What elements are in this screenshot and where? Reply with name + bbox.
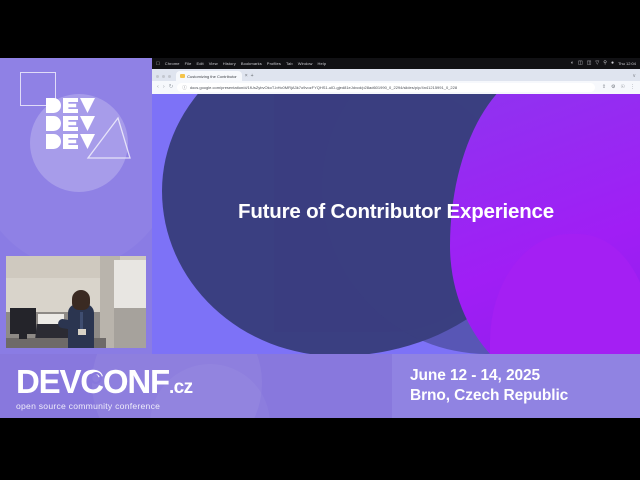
forward-button[interactable]: › bbox=[163, 85, 165, 91]
menu-item-window[interactable]: Window bbox=[298, 61, 313, 66]
kebab-menu-icon[interactable]: ⋮ bbox=[630, 85, 635, 90]
menu-item-view[interactable]: View bbox=[209, 61, 218, 66]
letter-v-glyph bbox=[80, 134, 95, 149]
siri-icon[interactable]: ● bbox=[611, 61, 614, 66]
slides-favicon-icon bbox=[180, 74, 185, 79]
macos-menu-bar:  Chrome File Edit View History Bookmark… bbox=[152, 58, 640, 69]
webcam-window-shade bbox=[114, 308, 146, 348]
share-icon[interactable]: ⇪ bbox=[602, 85, 606, 90]
new-tab-button[interactable]: + bbox=[251, 73, 254, 81]
menu-item-tab[interactable]: Tab bbox=[286, 61, 293, 66]
maximize-window-button[interactable] bbox=[168, 75, 171, 78]
minimize-window-button[interactable] bbox=[162, 75, 165, 78]
menu-bar-clock[interactable]: Thu 12:04 bbox=[618, 61, 636, 66]
devconf-wordmark: DEVCONF .cz bbox=[16, 365, 193, 398]
menu-item-help[interactable]: Help bbox=[318, 61, 327, 66]
letterbox-top bbox=[0, 0, 640, 58]
browser-tab-active[interactable]: Customizing the Contributor bbox=[176, 71, 242, 81]
tab-title: Customizing the Contributor bbox=[187, 74, 237, 79]
toolbar-icon-group: ⇪ ⚙ ☉ ⋮ bbox=[599, 85, 635, 90]
menu-item-bookmarks[interactable]: Bookmarks bbox=[241, 61, 262, 66]
letter-v-glyph bbox=[80, 116, 95, 131]
video-frame:  Chrome File Edit View History Bookmark… bbox=[0, 0, 640, 480]
devconf-tagline: open source community conference bbox=[16, 401, 193, 411]
webcam-monitor bbox=[10, 308, 36, 334]
spotlight-icon[interactable]: ⚲ bbox=[603, 61, 607, 66]
dev-logo-row bbox=[46, 116, 95, 131]
letter-e-glyph bbox=[63, 134, 78, 149]
event-location: Brno, Czech Republic bbox=[410, 386, 568, 406]
extensions-icon[interactable]: ⚙ bbox=[611, 85, 615, 90]
browser-tab-strip: Customizing the Contributor × + ∨ bbox=[152, 69, 640, 81]
dev-logo-row bbox=[46, 134, 95, 149]
menu-item-history[interactable]: History bbox=[223, 61, 236, 66]
battery-icon[interactable]: ◫ bbox=[587, 61, 592, 66]
reload-button[interactable]: ↻ bbox=[169, 85, 174, 91]
letter-e-glyph bbox=[63, 98, 78, 113]
webcam-monitor-stand bbox=[19, 334, 27, 339]
dev-dev-dev-logo bbox=[46, 98, 95, 149]
devconf-wordmark-suffix: .cz bbox=[169, 378, 193, 397]
wifi-icon[interactable]: ▽ bbox=[595, 61, 599, 66]
browser-toolbar: ‹ › ↻ ⓘ docs.google.com/presentation/d/1… bbox=[152, 81, 640, 94]
letterbox-bottom bbox=[0, 418, 640, 480]
slide-title: Future of Contributor Experience bbox=[152, 200, 640, 224]
event-info: June 12 - 14, 2025 Brno, Czech Republic bbox=[410, 366, 568, 406]
address-bar[interactable]: ⓘ docs.google.com/presentation/d/1fUsZyb… bbox=[177, 83, 595, 92]
control-center-icon[interactable]: ◫ bbox=[578, 61, 583, 66]
presentation-slide[interactable]: Future of Contributor Experience bbox=[152, 94, 640, 354]
menu-item-profiles[interactable]: Profiles bbox=[267, 61, 281, 66]
apple-logo-icon[interactable]:  bbox=[156, 61, 160, 67]
menu-item-chrome[interactable]: Chrome bbox=[165, 61, 180, 66]
profile-icon[interactable]: ☉ bbox=[621, 85, 625, 90]
left-rail bbox=[0, 58, 152, 354]
bluetooth-icon[interactable]: ◐ bbox=[571, 61, 574, 66]
window-controls[interactable] bbox=[156, 75, 171, 81]
letter-d-glyph bbox=[46, 98, 61, 113]
dev-logo-row bbox=[46, 98, 95, 113]
letter-d-glyph bbox=[46, 134, 61, 149]
webcam-speaker-lanyard bbox=[80, 312, 83, 330]
back-button[interactable]: ‹ bbox=[157, 85, 159, 91]
event-dates: June 12 - 14, 2025 bbox=[410, 366, 568, 386]
webcam-window-light bbox=[114, 260, 146, 308]
devconf-wordmark-main: DEVCONF bbox=[16, 365, 169, 398]
webcam-speaker-badge bbox=[78, 329, 86, 335]
close-window-button[interactable] bbox=[156, 75, 159, 78]
menu-item-file[interactable]: File bbox=[185, 61, 192, 66]
letter-e-glyph bbox=[63, 116, 78, 131]
webcam-speaker-hair bbox=[72, 290, 90, 310]
menu-bar-status-area: ◐ ◫ ◫ ▽ ⚲ ● Thu 12:04 bbox=[571, 58, 636, 69]
broadcast-stage:  Chrome File Edit View History Bookmark… bbox=[0, 58, 640, 418]
shared-browser-window:  Chrome File Edit View History Bookmark… bbox=[152, 58, 640, 354]
page-info-icon[interactable]: ⓘ bbox=[182, 85, 187, 91]
conference-footer-band: DEVCONF .cz open source community confer… bbox=[0, 354, 640, 418]
close-tab-button[interactable]: × bbox=[245, 73, 248, 81]
letter-v-glyph bbox=[80, 98, 95, 113]
letter-d-glyph bbox=[46, 116, 61, 131]
address-bar-url: docs.google.com/presentation/d/1fUsZybvO… bbox=[190, 85, 457, 90]
menu-item-edit[interactable]: Edit bbox=[196, 61, 203, 66]
devconf-logo: DEVCONF .cz open source community confer… bbox=[16, 365, 193, 411]
speaker-webcam-inset bbox=[6, 256, 146, 348]
tab-search-icon[interactable]: ∨ bbox=[632, 73, 636, 81]
